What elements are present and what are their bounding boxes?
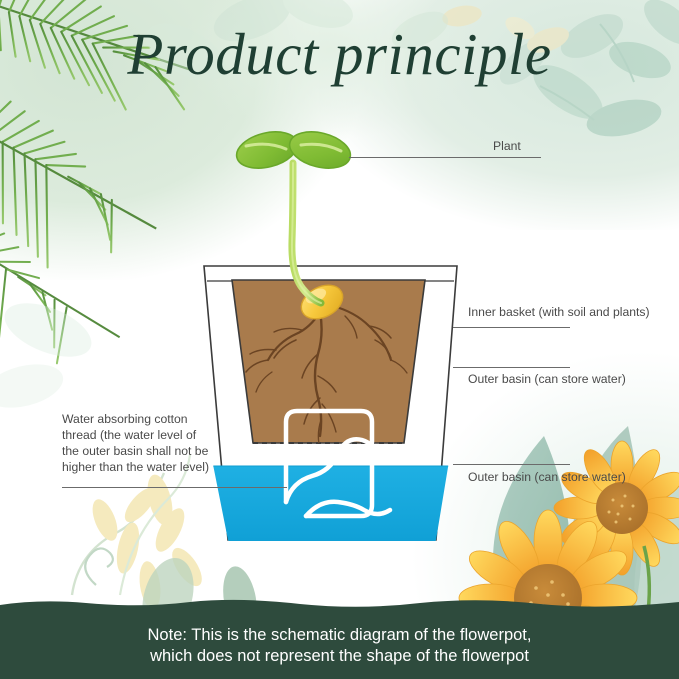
callout-label-plant: Plant: [493, 138, 521, 154]
leader-line-plant: [349, 157, 541, 158]
decorative-artwork-layer: [0, 0, 679, 679]
footer-note-bar: Note: This is the schematic diagram of t…: [0, 612, 679, 679]
leader-line-outer-basin-upper: [453, 367, 570, 368]
leader-line-cotton-thread: [62, 487, 287, 488]
callout-label-cotton-thread: Water absorbing cotton thread (the water…: [62, 411, 212, 475]
leader-line-inner-basket: [453, 327, 570, 328]
footer-note-text: Note: This is the schematic diagram of t…: [148, 625, 532, 666]
product-principle-infographic: Product principle: [0, 0, 679, 679]
callout-label-outer-basin-lower: Outer basin (can store water): [468, 469, 626, 485]
callout-label-outer-basin-upper: Outer basin (can store water): [468, 371, 626, 387]
watercolor-leaves-left: [0, 292, 99, 415]
leader-line-outer-basin-lower: [453, 464, 570, 465]
ground-edge-shape: [0, 596, 679, 612]
page-title: Product principle: [0, 22, 679, 87]
footer-note-line-2: which does not represent the shape of th…: [148, 646, 532, 667]
footer-note-line-1: Note: This is the schematic diagram of t…: [148, 625, 532, 646]
callout-label-inner-basket: Inner basket (with soil and plants): [468, 304, 650, 320]
